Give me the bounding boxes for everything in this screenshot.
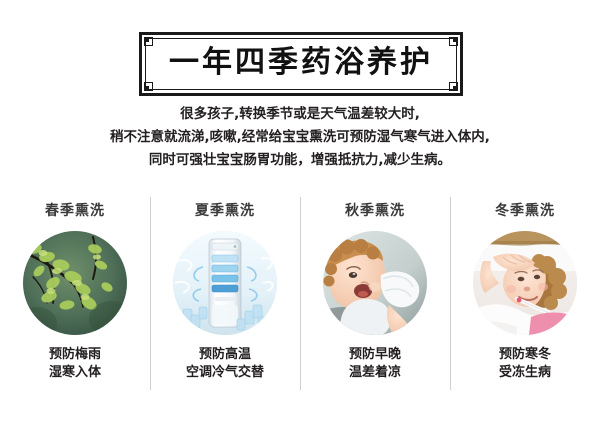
season-caption-spring: 预防梅雨 湿寒入体 [49,346,101,382]
poster-root: 一年四季药浴养护 很多孩子,转换季节或是天气温差较大时, 稍不注意就流涕,咳嗽,… [0,0,600,444]
season-title-autumn: 秋季熏洗 [345,204,405,218]
season-caption-spring-line-1: 预防梅雨 [49,346,101,364]
title-frame: 一年四季药浴养护 [139,32,463,96]
season-card-summer: 夏季熏洗 [150,195,300,395]
page-title: 一年四季药浴养护 [142,35,460,93]
summer-air-conditioner-photo [173,231,277,335]
season-caption-spring-line-2: 湿寒入体 [49,364,101,382]
intro-line-3: 同时可强壮宝宝肠胃功能，增强抵抗力,减少生病。 [0,149,600,172]
season-caption-autumn-line-1: 预防早晚 [349,346,401,364]
season-caption-winter-line-2: 受冻生病 [499,364,551,382]
season-caption-summer-line-1: 预防高温 [186,346,264,364]
season-caption-winter-line-1: 预防寒冬 [499,346,551,364]
season-caption-summer: 预防高温 空调冷气交替 [186,346,264,382]
season-caption-autumn: 预防早晚 温差着凉 [349,346,401,382]
spring-green-leaves-photo [23,231,127,335]
season-title-summer: 夏季熏洗 [195,204,255,218]
season-title-spring: 春季熏洗 [45,204,105,218]
season-caption-winter: 预防寒冬 受冻生病 [499,346,551,382]
intro-line-1: 很多孩子,转换季节或是天气温差较大时, [0,103,600,126]
intro-line-2: 稍不注意就流涕,咳嗽,经常给宝宝熏洗可预防湿气寒气进入体内, [0,126,600,149]
season-title-winter: 冬季熏洗 [495,204,555,218]
season-card-spring: 春季熏洗 [0,195,150,395]
autumn-child-sneezing-photo [323,231,427,335]
seasons-row: 春季熏洗 [0,195,600,395]
season-caption-autumn-line-2: 温差着凉 [349,364,401,382]
winter-sick-child-in-bed-photo [473,231,577,335]
season-card-winter: 冬季熏洗 [450,195,600,395]
season-caption-summer-line-2: 空调冷气交替 [186,364,264,382]
season-card-autumn: 秋季熏洗 [300,195,450,395]
intro-paragraph: 很多孩子,转换季节或是天气温差较大时, 稍不注意就流涕,咳嗽,经常给宝宝熏洗可预… [0,103,600,172]
